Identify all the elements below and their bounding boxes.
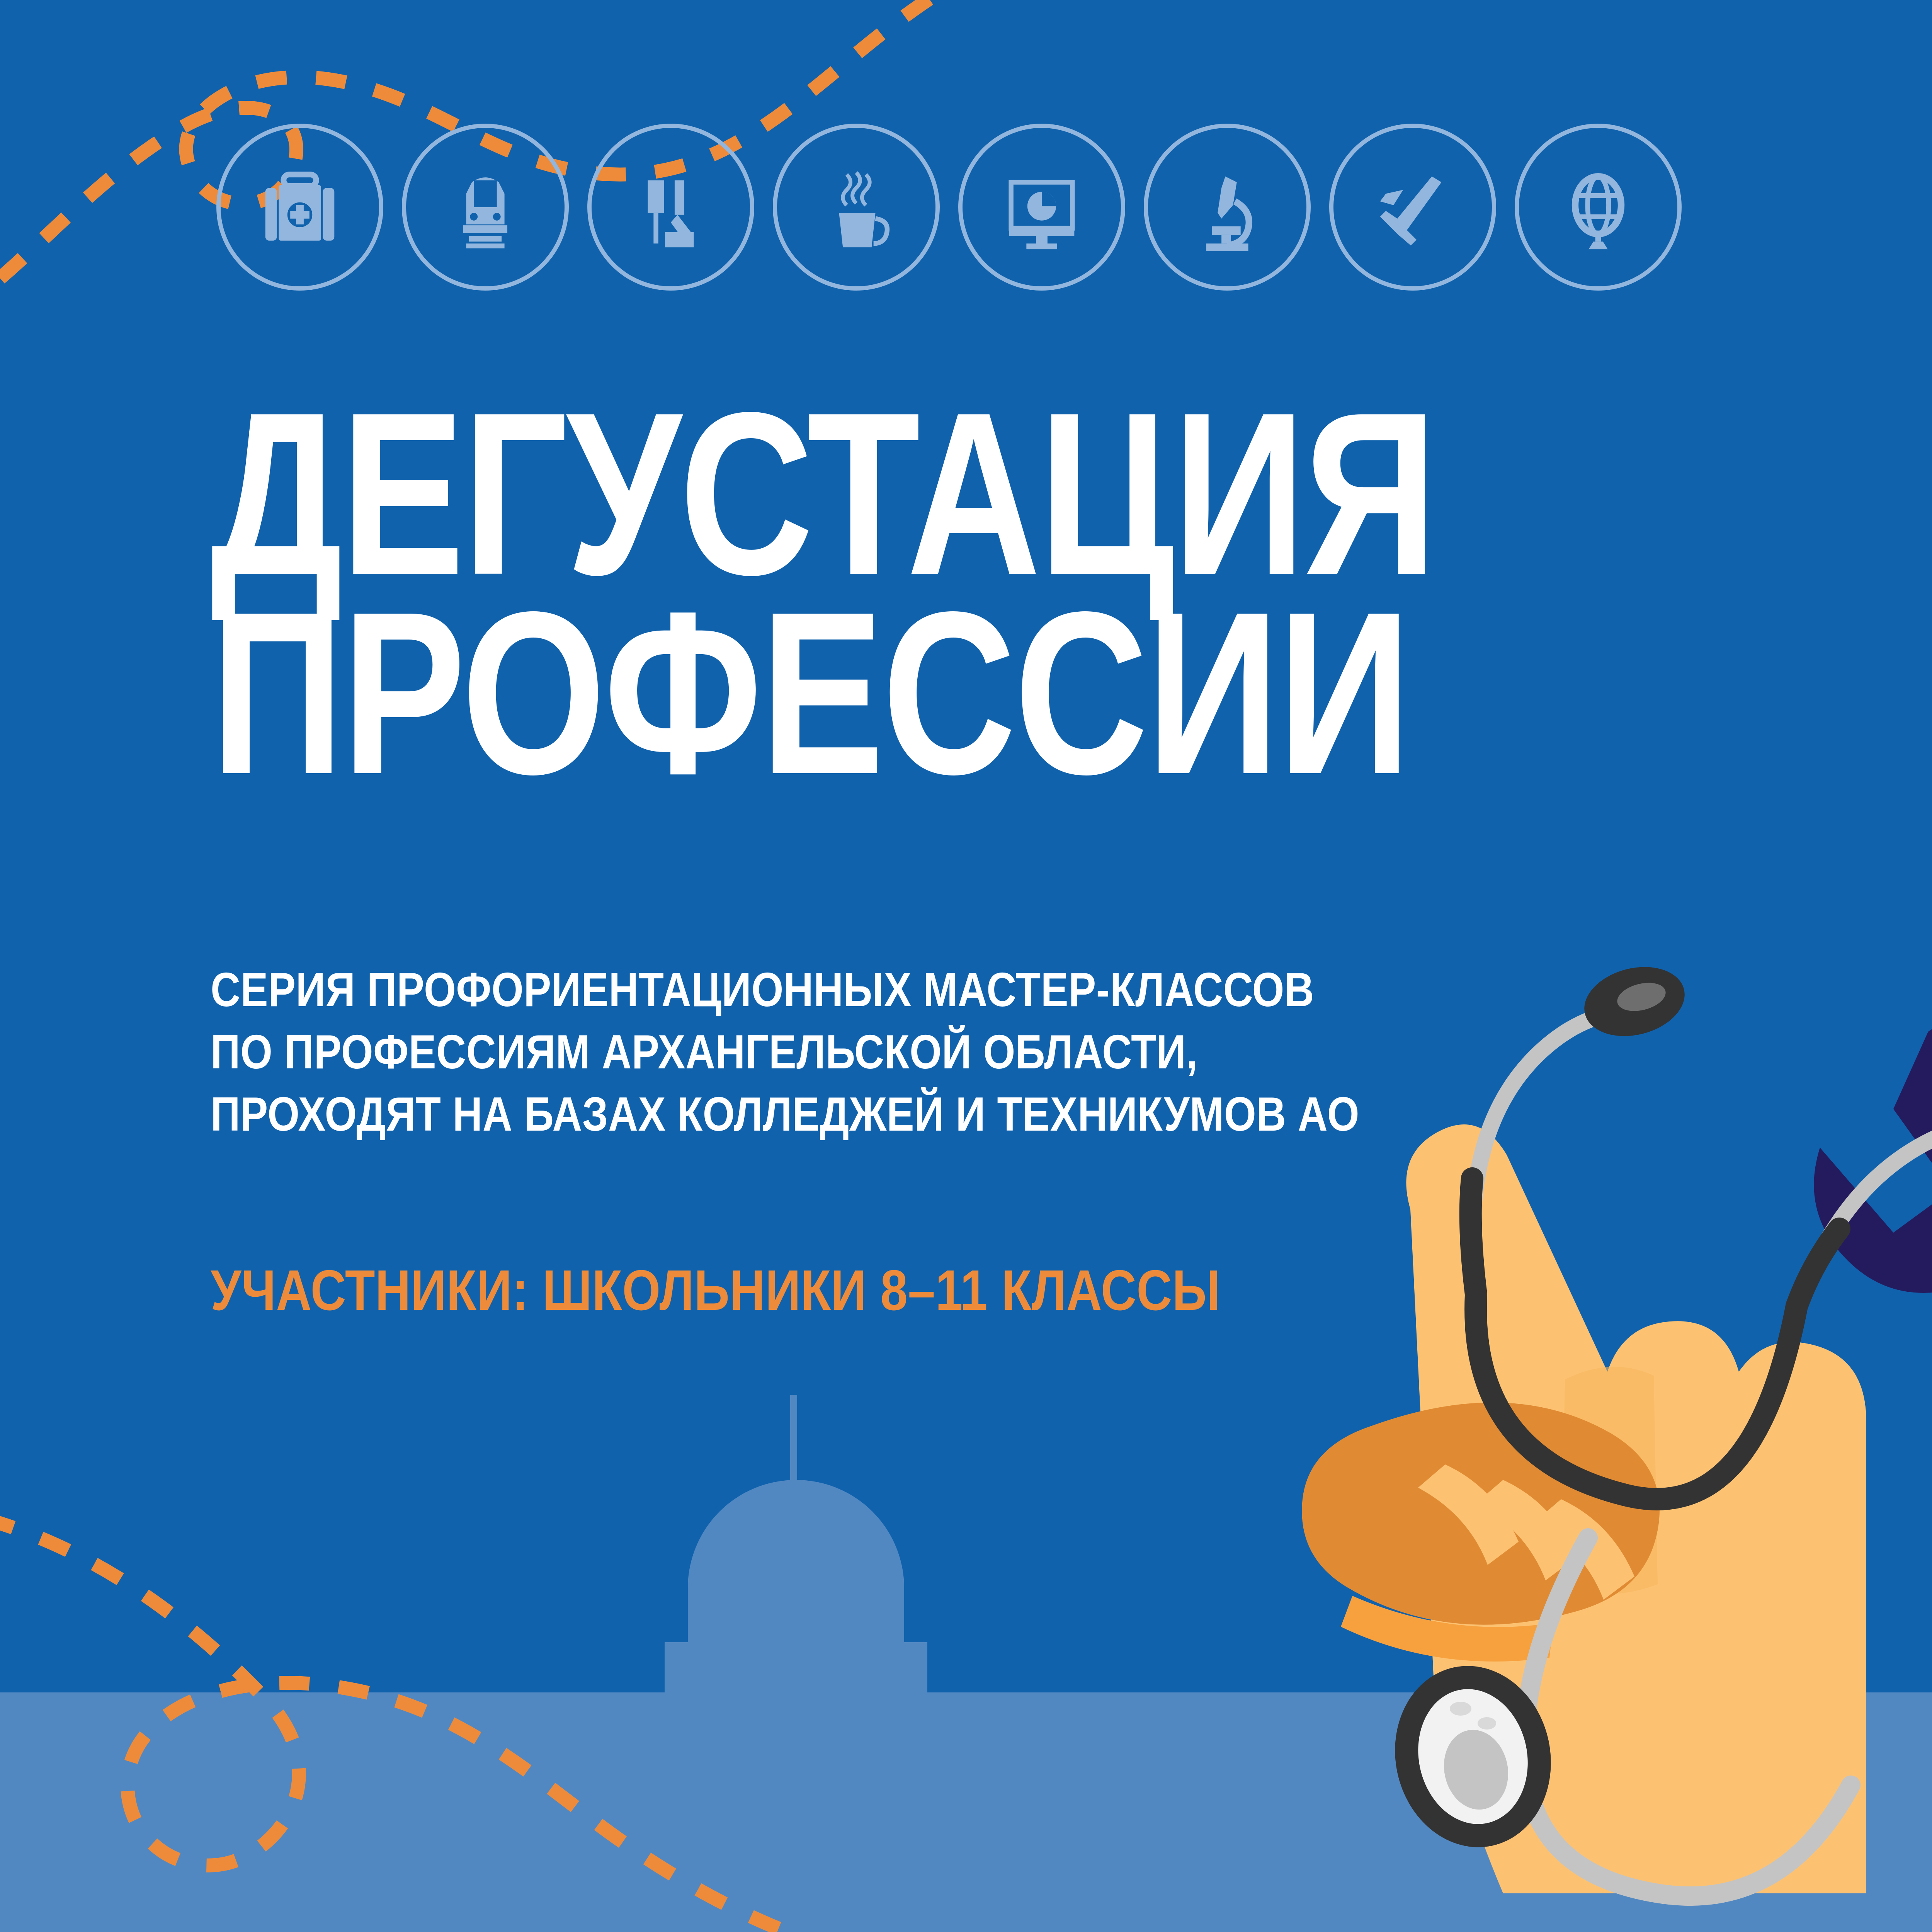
hand-holding-stethoscope [1302, 1124, 1866, 1893]
title-line-2: ПРОФЕССИИ [211, 594, 1633, 793]
train-icon[interactable] [402, 124, 569, 291]
profession-icon-strip [216, 124, 1682, 291]
hands-illustration-svg [1294, 831, 1932, 1932]
domed-building-dome [688, 1480, 904, 1646]
hands-illustration [1294, 831, 1932, 1932]
first-aid-case-icon[interactable] [216, 124, 383, 291]
page-title: ДЕГУСТАЦИЯ ПРОФЕССИИ [211, 394, 1633, 793]
coffee-cup-icon[interactable] [773, 124, 940, 291]
monitor-chart-icon[interactable] [958, 124, 1125, 291]
poster-canvas: Архангельской области ДЕГУСТАЦИЯ ПРОФЕСС… [0, 0, 1932, 1932]
airplane-icon[interactable] [1329, 124, 1496, 291]
construction-tools-icon[interactable] [587, 124, 754, 291]
globe-icon[interactable] [1515, 124, 1682, 291]
microscope-icon[interactable] [1144, 124, 1311, 291]
domed-building-base [665, 1642, 927, 1692]
domed-building-spire [790, 1395, 797, 1484]
